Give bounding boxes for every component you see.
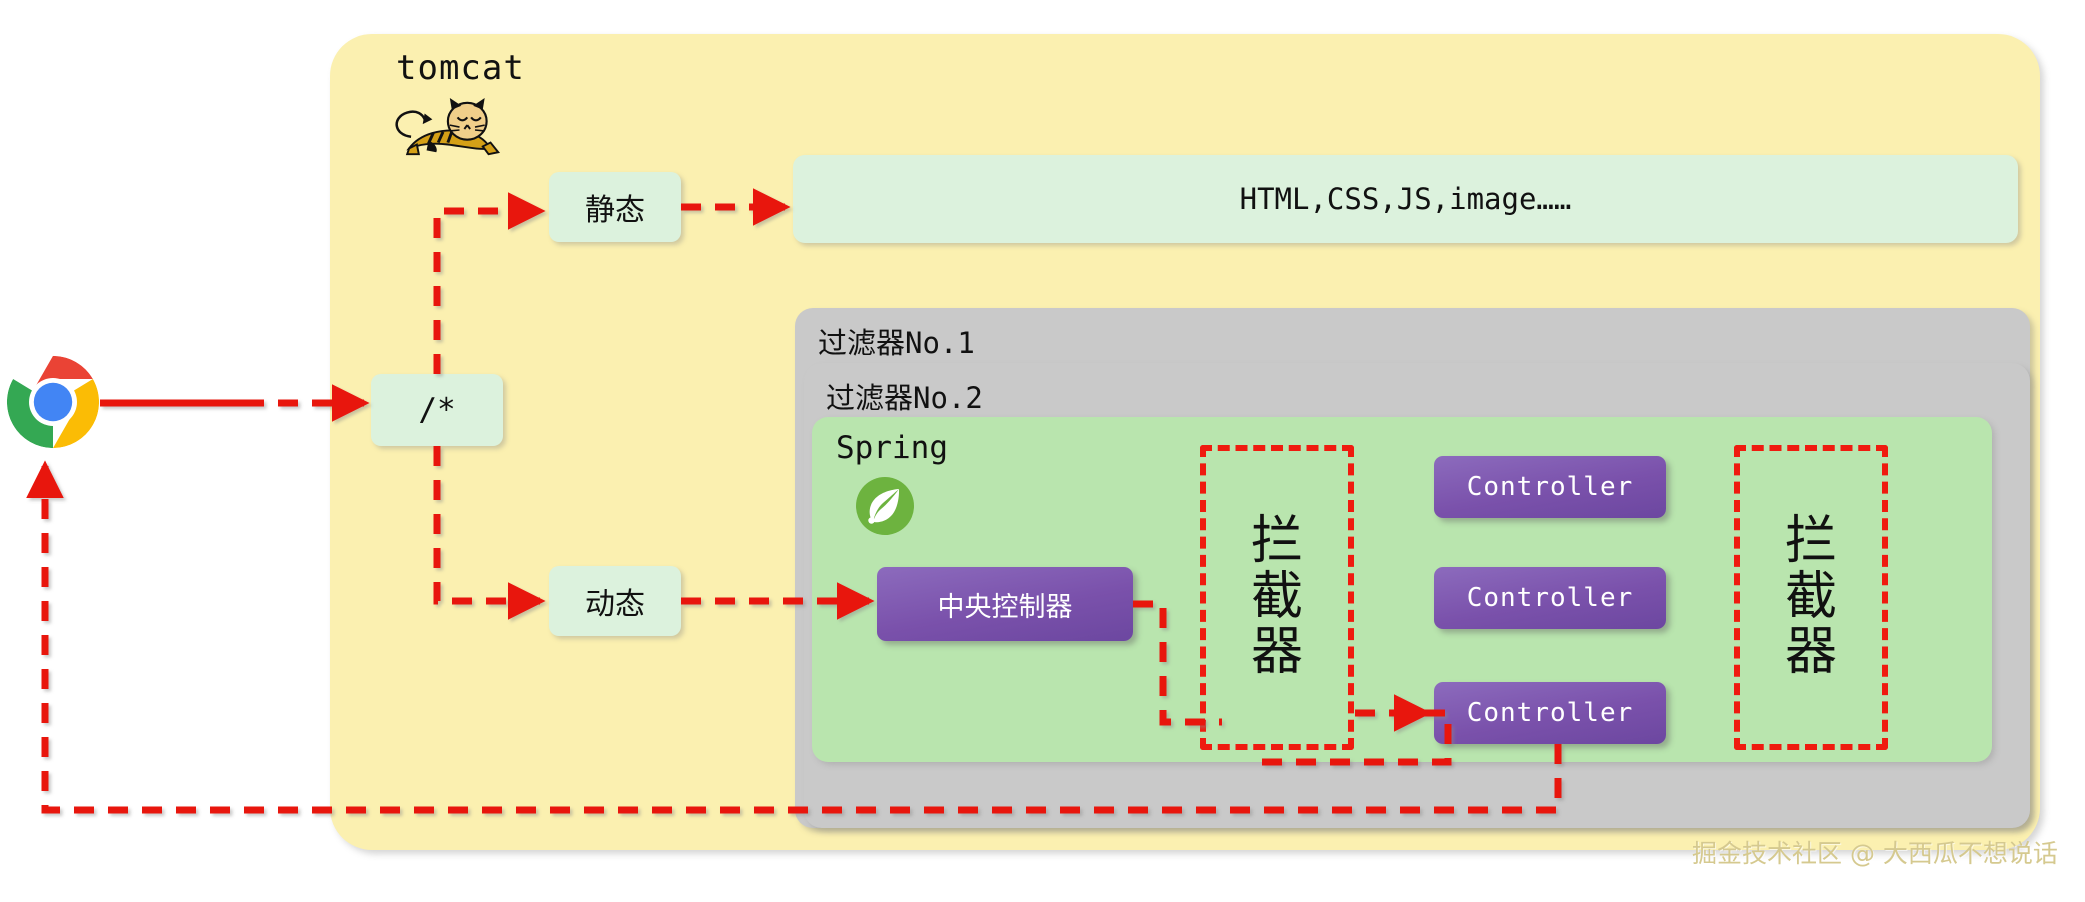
interceptor-1-char-1: 拦 — [1251, 514, 1303, 570]
interceptor-1-char-2: 截 — [1251, 570, 1303, 626]
tomcat-title: tomcat — [396, 48, 525, 88]
interceptor-2-char-2: 截 — [1785, 570, 1837, 626]
interceptor-2-char-3: 器 — [1785, 625, 1837, 681]
interceptor-box-1: 拦 截 器 — [1200, 445, 1354, 750]
controller-box-3[interactable]: Controller — [1434, 682, 1666, 744]
filter-no1-label: 过滤器No.1 — [818, 320, 975, 362]
chrome-browser-icon[interactable] — [5, 354, 101, 450]
filter-no2-label: 过滤器No.2 — [826, 375, 983, 417]
static-resources-box: HTML,CSS,JS,image…… — [793, 155, 2018, 243]
controller-box-1[interactable]: Controller — [1434, 456, 1666, 518]
spring-leaf-icon — [855, 476, 915, 536]
watermark-credit: 掘金技术社区 @ 大西瓜不想说话 — [1692, 834, 2058, 870]
interceptor-box-2: 拦 截 器 — [1734, 445, 1888, 750]
diagram-canvas: tomcat — [0, 0, 2085, 902]
spring-title: Spring — [836, 430, 948, 466]
central-dispatcher-box[interactable]: 中央控制器 — [877, 567, 1133, 641]
route-static[interactable]: 静态 — [549, 172, 681, 242]
route-dynamic[interactable]: 动态 — [549, 566, 681, 636]
tomcat-cat-icon — [385, 98, 503, 160]
interceptor-1-char-3: 器 — [1251, 625, 1303, 681]
controller-box-2[interactable]: Controller — [1434, 567, 1666, 629]
route-catch-all[interactable]: /* — [371, 374, 503, 446]
interceptor-2-char-1: 拦 — [1785, 514, 1837, 570]
